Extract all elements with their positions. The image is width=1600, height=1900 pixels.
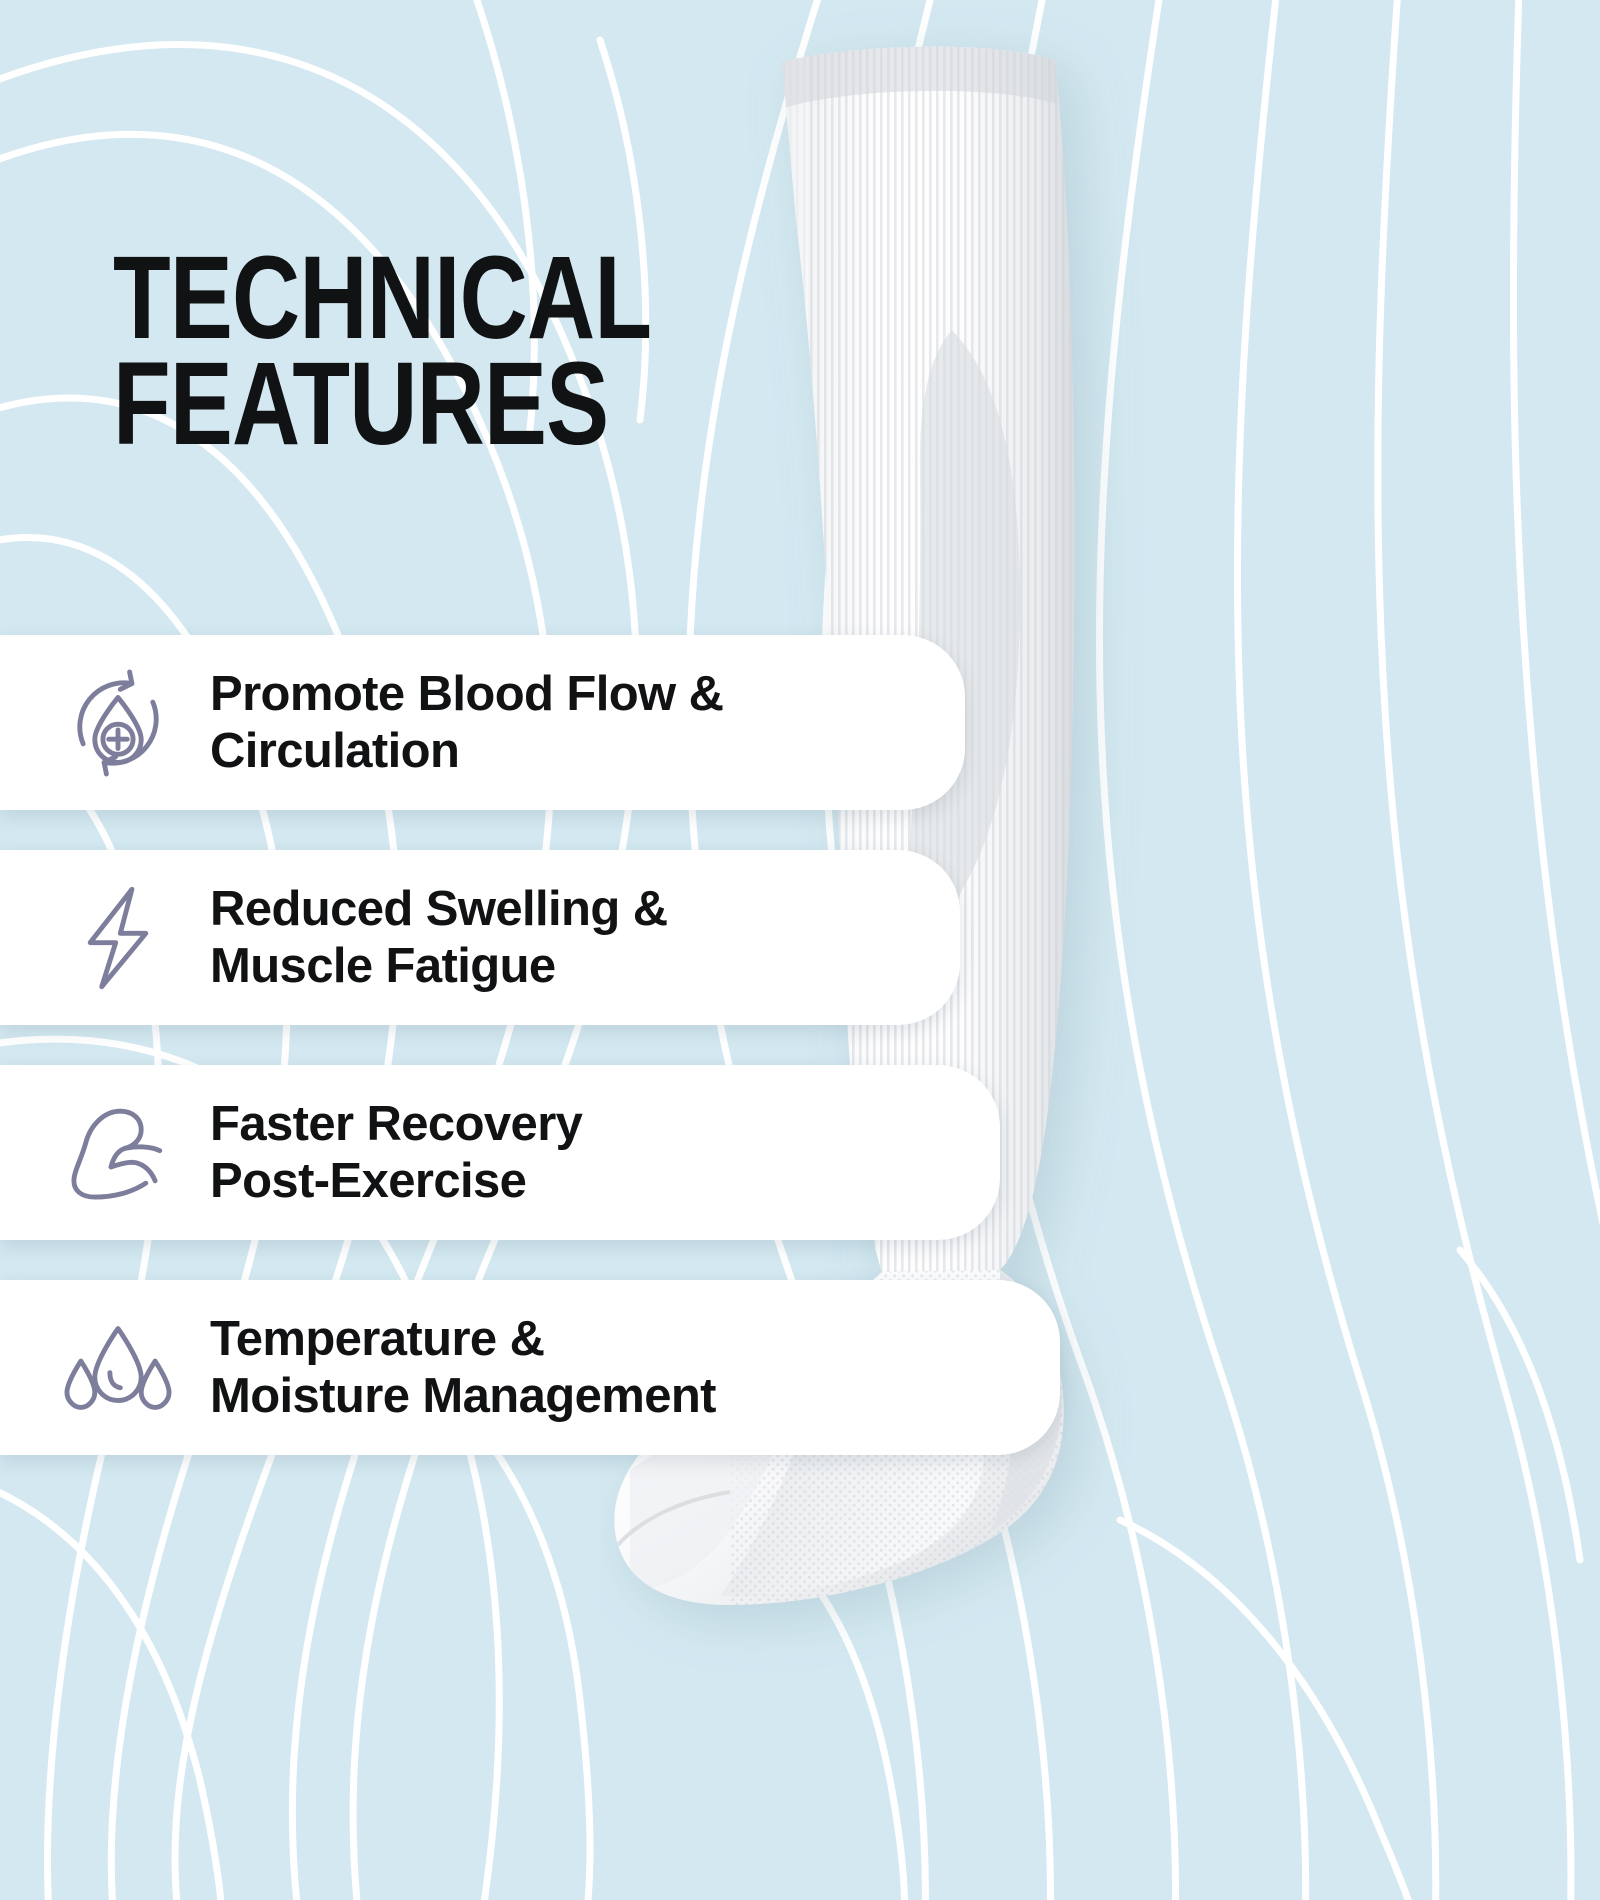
lightning-bolt-icon: [60, 880, 176, 996]
feature-label: Faster Recovery Post-Exercise: [210, 1096, 582, 1210]
feature-card-moisture-management[interactable]: Temperature & Moisture Management: [0, 1280, 1060, 1455]
feature-label: Temperature & Moisture Management: [210, 1311, 716, 1425]
water-droplets-icon: [60, 1310, 176, 1426]
feature-card-blood-flow[interactable]: Promote Blood Flow & Circulation: [0, 635, 965, 810]
feature-list: Promote Blood Flow & Circulation Reduced…: [0, 635, 1060, 1455]
feature-card-faster-recovery[interactable]: Faster Recovery Post-Exercise: [0, 1065, 1000, 1240]
page-title-line-2: FEATURES: [113, 351, 651, 457]
page-title: TECHNICAL FEATURES: [113, 245, 786, 457]
blood-circulation-icon: [60, 665, 176, 781]
page-title-line-1: TECHNICAL: [113, 245, 651, 351]
feature-label: Reduced Swelling & Muscle Fatigue: [210, 881, 668, 995]
flexed-bicep-icon: [60, 1095, 176, 1211]
feature-card-reduced-swelling[interactable]: Reduced Swelling & Muscle Fatigue: [0, 850, 960, 1025]
feature-label: Promote Blood Flow & Circulation: [210, 666, 723, 780]
